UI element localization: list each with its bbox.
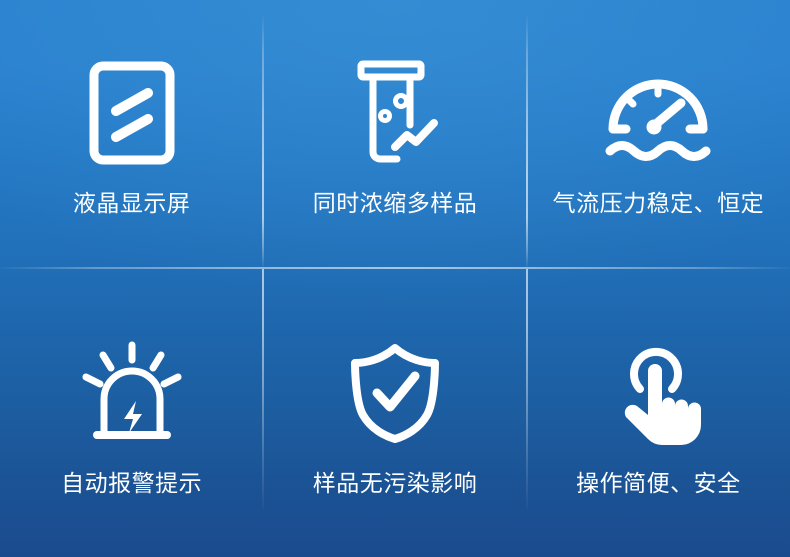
shield-check-icon xyxy=(340,338,450,448)
feature-label-multi-sample: 同时浓缩多样品 xyxy=(313,192,478,215)
test-tube-chart-icon xyxy=(340,58,450,168)
touch-hand-icon xyxy=(603,338,713,448)
lcd-screen-icon xyxy=(77,58,187,168)
feature-label-lcd-display: 液晶显示屏 xyxy=(73,192,191,215)
feature-cell-auto-alarm: 自动报警提示 xyxy=(0,279,263,557)
feature-cell-easy-operation: 操作简便、安全 xyxy=(527,279,790,557)
pressure-gauge-icon xyxy=(603,58,713,168)
feature-cell-no-contamination: 样品无污染影响 xyxy=(263,279,526,557)
feature-cell-lcd-display: 液晶显示屏 xyxy=(0,0,263,279)
feature-cell-stable-pressure: 气流压力稳定、恒定 xyxy=(527,0,790,279)
feature-label-no-contamination: 样品无污染影响 xyxy=(313,472,478,495)
feature-label-easy-operation: 操作简便、安全 xyxy=(576,472,741,495)
feature-label-stable-pressure: 气流压力稳定、恒定 xyxy=(553,192,765,215)
feature-label-auto-alarm: 自动报警提示 xyxy=(61,472,202,495)
feature-grid: 液晶显示屏 同时浓缩多样品 xyxy=(0,0,790,557)
alarm-siren-icon xyxy=(77,338,187,448)
feature-board: 液晶显示屏 同时浓缩多样品 xyxy=(0,0,790,557)
feature-cell-multi-sample: 同时浓缩多样品 xyxy=(263,0,526,279)
